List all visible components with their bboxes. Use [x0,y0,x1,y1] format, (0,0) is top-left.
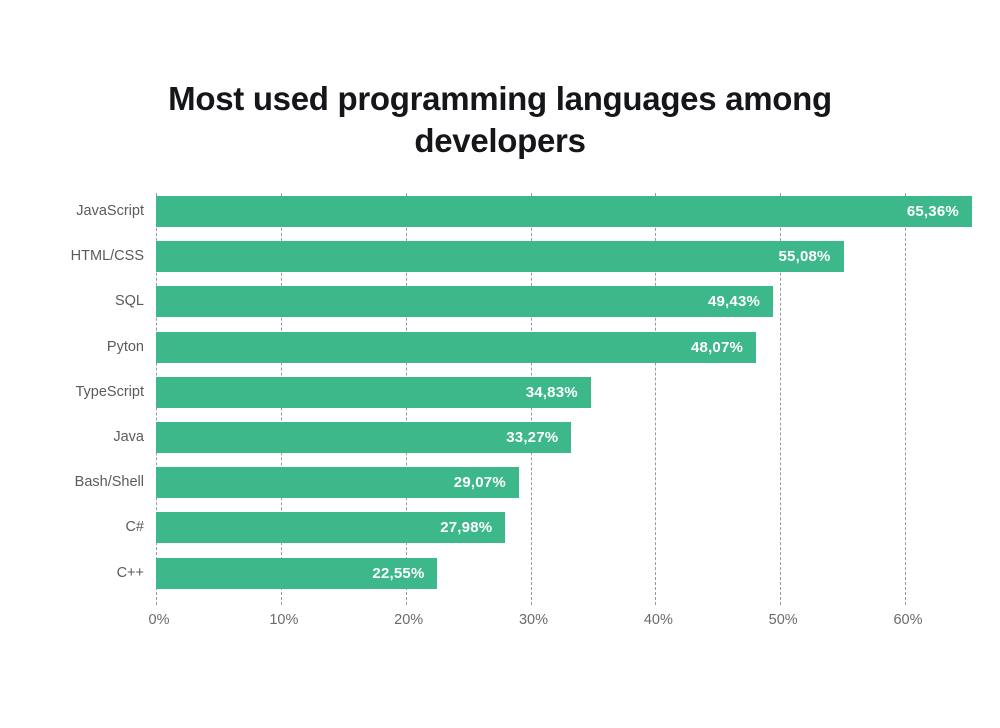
bar-value-label: 33,27% [506,429,571,446]
bar-value-label: 27,98% [440,519,505,536]
y-axis-label: Pyton [0,332,144,363]
bar-row: 55,08% [156,241,905,272]
bar[interactable]: 22,55% [156,558,437,589]
x-axis-tick: 50% [769,612,798,628]
x-axis-tick-labels: 0%10%20%30%40%50%60% [156,612,905,642]
y-axis-label: JavaScript [0,196,144,227]
bar-row: 48,07% [156,332,905,363]
gridline-60pct [905,193,906,605]
bar-series: 65,36%55,08%49,43%48,07%34,83%33,27%29,0… [156,193,905,605]
y-axis-category-labels: JavaScriptHTML/CSSSQLPytonTypeScriptJava… [0,193,144,605]
bar-value-label: 22,55% [372,565,437,582]
bar-value-label: 55,08% [779,248,844,265]
y-axis-label: C# [0,512,144,543]
bar-value-label: 49,43% [708,293,773,310]
x-axis-tick: 20% [394,612,423,628]
bar[interactable]: 49,43% [156,286,773,317]
y-axis-label: HTML/CSS [0,241,144,272]
bar[interactable]: 29,07% [156,467,519,498]
y-axis-label: Java [0,422,144,453]
bar-row: 29,07% [156,467,905,498]
x-axis-tick: 40% [644,612,673,628]
chart-figure: Most used programming languages among de… [0,0,1000,728]
y-axis-label: C++ [0,558,144,589]
chart-title: Most used programming languages among de… [110,78,890,162]
bar-row: 49,43% [156,286,905,317]
y-axis-label: SQL [0,286,144,317]
bar[interactable]: 48,07% [156,332,756,363]
bar-value-label: 65,36% [907,203,972,220]
bar-row: 65,36% [156,196,905,227]
bar-row: 27,98% [156,512,905,543]
x-axis-tick: 0% [149,612,170,628]
bar[interactable]: 55,08% [156,241,844,272]
bar-row: 33,27% [156,422,905,453]
bar-value-label: 29,07% [454,474,519,491]
bar[interactable]: 27,98% [156,512,505,543]
plot-area: 65,36%55,08%49,43%48,07%34,83%33,27%29,0… [156,193,905,605]
bar[interactable]: 33,27% [156,422,571,453]
bar-value-label: 34,83% [526,384,591,401]
x-axis-tick: 10% [269,612,298,628]
bar-value-label: 48,07% [691,339,756,356]
bar-row: 34,83% [156,377,905,408]
y-axis-label: TypeScript [0,377,144,408]
bar-row: 22,55% [156,558,905,589]
x-axis-tick: 30% [519,612,548,628]
y-axis-label: Bash/Shell [0,467,144,498]
x-axis-tick: 60% [893,612,922,628]
bar[interactable]: 65,36% [156,196,972,227]
bar[interactable]: 34,83% [156,377,591,408]
